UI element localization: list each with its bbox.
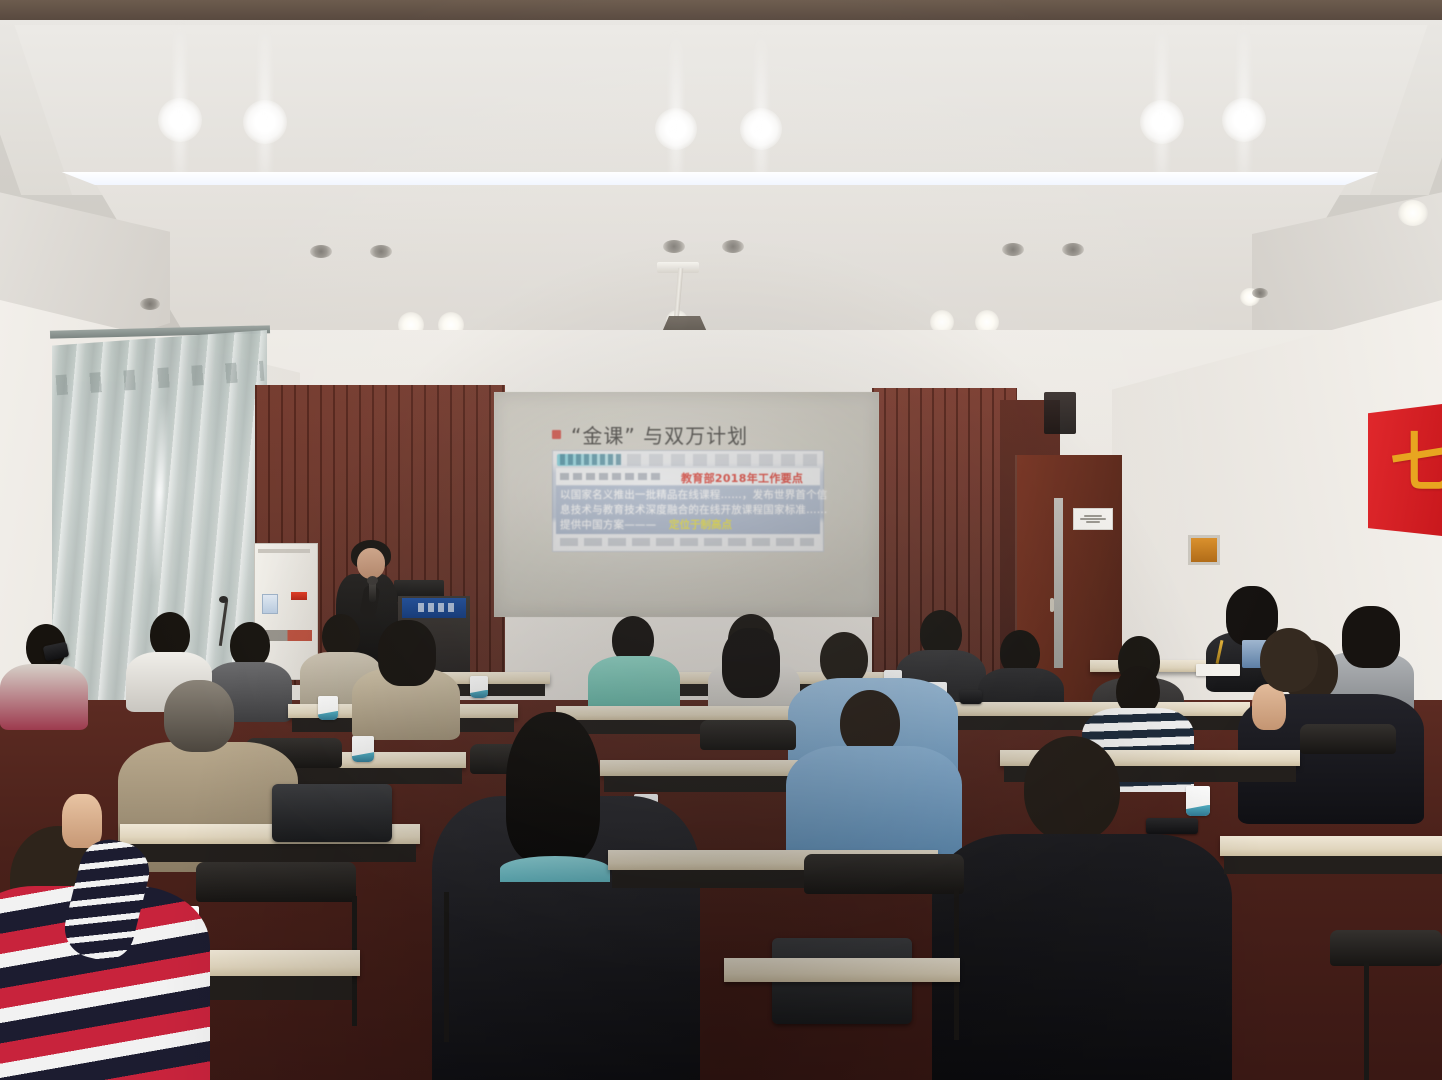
screenshot-toolbar <box>627 454 820 466</box>
ceiling-downlight <box>1398 200 1428 226</box>
attendee-collar <box>500 856 610 882</box>
presenter-head <box>357 548 385 579</box>
attendee-head <box>1024 736 1120 842</box>
ceiling-led-cove-strip <box>55 172 1385 185</box>
attendee-head <box>1260 628 1318 692</box>
recessed-light-can <box>140 298 160 310</box>
chair[interactable] <box>1330 930 1442 966</box>
paper-sheet <box>1196 664 1240 676</box>
ceiling-soffit-middle <box>90 185 1352 345</box>
recessed-light-can <box>663 240 685 253</box>
projected-slide: “金课” 与双万计划 教育部2018年工作要点 以国家名义推出一批精品在线课程…… <box>494 392 879 617</box>
attendee-body <box>932 834 1232 1080</box>
screenshot-body-line-1: 以国家名义推出一批精品在线课程……，发布世界首个信 <box>560 487 828 502</box>
screenshot-body-line-2: 息技术与教育技术深度融合的在线开放课程国家标准…… <box>560 502 828 517</box>
recessed-light-can <box>370 245 392 258</box>
table-apron <box>1224 856 1442 874</box>
attendee-hair <box>1342 606 1400 668</box>
recessed-light-can <box>1062 243 1084 256</box>
chair[interactable] <box>700 720 796 750</box>
wall-plaque <box>1188 535 1220 565</box>
chair[interactable] <box>196 862 356 902</box>
podium-name-plate-text <box>418 603 458 612</box>
door-glass-strip <box>1054 498 1063 668</box>
paper-cup <box>352 736 374 762</box>
chair-leg <box>1364 962 1369 1080</box>
ceiling-downlight <box>1140 100 1184 144</box>
recessed-light-can <box>310 245 332 258</box>
microphone-head-icon <box>367 576 378 585</box>
projection-screen: “金课” 与双万计划 教育部2018年工作要点 以国家名义推出一批精品在线课程…… <box>494 392 879 617</box>
door-room-sign <box>1073 508 1113 530</box>
ceiling-downlight <box>158 98 202 142</box>
recessed-light-can <box>1252 288 1268 298</box>
ceiling-downlight <box>1222 98 1266 142</box>
table-row <box>724 958 960 982</box>
table-row <box>556 706 796 720</box>
ceiling-downlight <box>655 108 697 150</box>
slide-title-row: “金课” 与双万计划 <box>552 420 748 449</box>
recessed-light-can <box>722 240 744 253</box>
wall-speaker <box>1044 392 1076 434</box>
recessed-light-can <box>1002 243 1024 256</box>
chair[interactable] <box>804 854 964 894</box>
paper-cup <box>1186 786 1210 816</box>
slide-title: “金课” 与双万计划 <box>571 420 748 449</box>
attendee-body <box>0 664 88 730</box>
attendee-hair <box>722 628 780 698</box>
air-conditioner-label <box>262 594 278 614</box>
attendee-hair-ponytail <box>506 712 600 862</box>
paper-cup <box>470 676 488 698</box>
lecture-hall-photo: 七 “金课” 与双万计划 教育部2018年工作要点 以国家名义推出一批精品在线课… <box>0 0 1442 1080</box>
paper-cup <box>318 696 338 720</box>
ceiling-downlight <box>243 100 287 144</box>
screenshot-footer-text <box>560 538 814 546</box>
screenshot-body-line-3: 提供中国方案——— <box>560 517 656 532</box>
ceiling-downlight <box>740 108 782 150</box>
screenshot-red-heading: 教育部2018年工作要点 <box>681 470 803 486</box>
air-conditioner-vent <box>258 549 310 553</box>
smartphone[interactable] <box>960 690 982 704</box>
door-handle[interactable] <box>1050 598 1054 612</box>
slide-bullet-icon <box>552 430 561 439</box>
chair-leg <box>444 892 449 1042</box>
table-apron <box>124 844 416 862</box>
air-conditioner-brand-mark <box>291 592 307 600</box>
banner-character: 七 <box>1390 432 1442 496</box>
table-row <box>1220 836 1442 856</box>
attendee-hair <box>378 620 436 686</box>
attendee-hair <box>164 680 234 752</box>
screenshot-tab-label <box>560 454 622 465</box>
chair[interactable] <box>1300 724 1396 754</box>
smartphone[interactable] <box>1146 818 1198 834</box>
gooseneck-microphone-head-icon <box>219 596 228 603</box>
slide-embedded-screenshot: 教育部2018年工作要点 以国家名义推出一批精品在线课程……，发布世界首个信 息… <box>552 450 824 552</box>
laptop-bag <box>272 784 392 842</box>
screenshot-accent-text: 定位于制高点 <box>669 517 732 532</box>
screenshot-meta-text <box>560 473 664 480</box>
attendee-hand <box>62 794 102 848</box>
